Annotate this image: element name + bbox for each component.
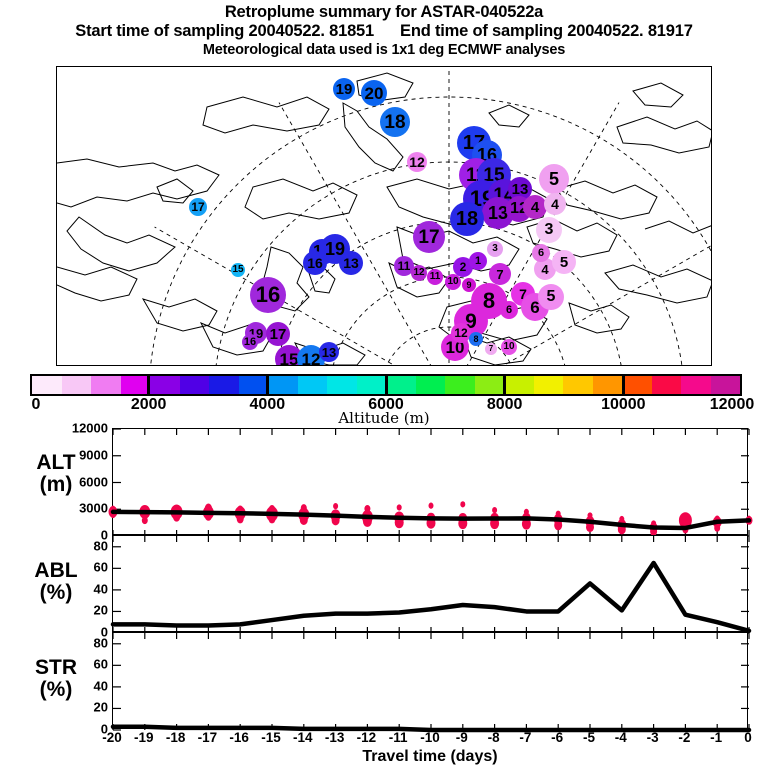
- colorbar-segment: [62, 376, 92, 394]
- x-tick-label: -4: [615, 730, 627, 745]
- sampling-time-line: Start time of sampling 20040522. 81851En…: [0, 22, 768, 41]
- colorbar-segment: [504, 376, 534, 394]
- y-tick-label: 80: [46, 635, 108, 650]
- colorbar-segment: [681, 376, 711, 394]
- map-retroplume-bubble[interactable]: 8: [469, 332, 483, 346]
- map-retroplume-bubble[interactable]: 4: [544, 193, 566, 215]
- x-axis-title: Travel time (days): [112, 748, 748, 766]
- figure-title-block: Retroplume summary for ASTAR-040522a Sta…: [0, 0, 768, 59]
- map-retroplume-bubble[interactable]: 6: [532, 244, 550, 262]
- alt-plot: [113, 429, 749, 536]
- colorbar-segment: [239, 376, 269, 394]
- map-retroplume-bubble[interactable]: 13: [339, 251, 363, 275]
- x-tick-label: -8: [488, 730, 500, 745]
- colorbar-segment: [32, 376, 62, 394]
- x-tick-label: -20: [102, 730, 122, 745]
- map-retroplume-bubble[interactable]: 16: [250, 277, 286, 313]
- map-retroplume-bubble[interactable]: 4: [523, 195, 547, 219]
- map-retroplume-bubble[interactable]: 17: [189, 198, 207, 216]
- colorbar-segment: [622, 376, 652, 394]
- x-tick-label: -2: [678, 730, 690, 745]
- y-tick-label: 20: [46, 603, 108, 618]
- colorbar-segment: [150, 376, 180, 394]
- y-tick-label: 0: [46, 722, 108, 737]
- colorbar-segment: [563, 376, 593, 394]
- map-retroplume-bubble[interactable]: 12: [407, 152, 427, 172]
- colorbar-segment: [416, 376, 446, 394]
- map-retroplume-bubble[interactable]: 12: [411, 265, 427, 281]
- map-retroplume-bubble[interactable]: 15: [231, 263, 245, 277]
- map-retroplume-bubble[interactable]: 7: [485, 343, 497, 355]
- y-tick-label: 6000: [46, 474, 108, 489]
- map-retroplume-bubble[interactable]: 18: [380, 107, 410, 137]
- x-tick-label: -1: [710, 730, 722, 745]
- x-tick-label: -18: [166, 730, 186, 745]
- map-retroplume-bubble[interactable]: 16: [242, 334, 258, 350]
- map-retroplume-bubble[interactable]: 19: [333, 78, 355, 100]
- met-data-label: Meteorological data used is 1x1 deg ECMW…: [0, 41, 768, 59]
- x-tick-label: -17: [198, 730, 218, 745]
- colorbar-segment: [327, 376, 357, 394]
- colorbar-divider: [622, 374, 625, 396]
- map-retroplume-bubble[interactable]: 11: [427, 269, 443, 285]
- map-retroplume-bubble[interactable]: 17: [266, 322, 290, 346]
- y-tick-label: 20: [46, 700, 108, 715]
- colorbar-segment: [534, 376, 564, 394]
- x-tick-label: 0: [744, 730, 752, 745]
- colorbar-divider: [147, 374, 150, 396]
- map-retroplume-bubble[interactable]: 16: [303, 251, 327, 275]
- x-tick-label: -14: [293, 730, 313, 745]
- colorbar-segment: [91, 376, 121, 394]
- colorbar-segment: [386, 376, 416, 394]
- start-time-label: Start time of sampling 20040522. 81851: [75, 22, 374, 40]
- str-plot: [113, 633, 749, 730]
- colorbar-segment: [475, 376, 505, 394]
- x-tick-label: -3: [647, 730, 659, 745]
- colorbar-segment: [357, 376, 387, 394]
- map-retroplume-bubble[interactable]: 5: [539, 164, 569, 194]
- colorbar-segment: [593, 376, 623, 394]
- map-retroplume-bubble[interactable]: 17: [413, 221, 445, 253]
- alt-panel[interactable]: [112, 428, 748, 535]
- colorbar-title: Altitude (m): [0, 409, 768, 427]
- map-retroplume-bubble[interactable]: 20: [361, 80, 387, 106]
- y-tick-label: 80: [46, 538, 108, 553]
- colorbar-segment: [121, 376, 151, 394]
- map-retroplume-bubble[interactable]: 18: [450, 202, 484, 236]
- retroplume-map[interactable]: 1920181217161115191413131218454317151619…: [56, 66, 712, 366]
- colorbar-segment: [445, 376, 475, 394]
- end-time-label: End time of sampling 20040522. 81917: [400, 22, 693, 40]
- colorbar-divider: [266, 374, 269, 396]
- x-tick-label: -6: [551, 730, 563, 745]
- x-tick-label: -11: [389, 730, 408, 745]
- x-tick-label: -19: [134, 730, 154, 745]
- map-retroplume-bubble[interactable]: 5: [552, 250, 576, 274]
- colorbar-segment: [180, 376, 210, 394]
- x-tick-label: -9: [456, 730, 468, 745]
- map-retroplume-bubble[interactable]: 1: [469, 252, 487, 270]
- y-tick-label: 60: [46, 657, 108, 672]
- colorbar-segment: [652, 376, 682, 394]
- str-panel[interactable]: [112, 632, 748, 729]
- x-tick-label: -7: [519, 730, 531, 745]
- map-retroplume-bubble[interactable]: 13: [319, 342, 339, 362]
- y-tick-label: 40: [46, 581, 108, 596]
- y-tick-label: 60: [46, 560, 108, 575]
- x-tick-label: -15: [261, 730, 281, 745]
- x-tick-label: -5: [583, 730, 595, 745]
- colorbar-segment: [711, 376, 741, 394]
- map-retroplume-bubble[interactable]: 12: [451, 323, 471, 343]
- colorbar-divider: [385, 374, 388, 396]
- map-retroplume-bubble[interactable]: 3: [536, 217, 562, 243]
- map-retroplume-bubble[interactable]: 3: [487, 241, 503, 257]
- figure-title: Retroplume summary for ASTAR-040522a: [0, 0, 768, 22]
- map-retroplume-bubble[interactable]: 7: [489, 263, 511, 285]
- y-tick-label: 12000: [46, 421, 108, 436]
- y-tick-label: 40: [46, 678, 108, 693]
- map-retroplume-bubble[interactable]: 5: [538, 284, 564, 310]
- y-tick-label: 3000: [46, 501, 108, 516]
- abl-panel[interactable]: [112, 535, 748, 632]
- x-tick-label: -12: [357, 730, 377, 745]
- colorbar-divider: [503, 374, 506, 396]
- colorbar-segment: [268, 376, 298, 394]
- map-retroplume-bubble[interactable]: 10: [501, 339, 517, 355]
- x-tick-label: -10: [420, 730, 440, 745]
- abl-plot: [113, 536, 749, 633]
- x-tick-label: -16: [229, 730, 249, 745]
- colorbar-segment: [298, 376, 328, 394]
- y-tick-label: 9000: [46, 447, 108, 462]
- x-tick-label: -13: [325, 730, 345, 745]
- colorbar-segment: [209, 376, 239, 394]
